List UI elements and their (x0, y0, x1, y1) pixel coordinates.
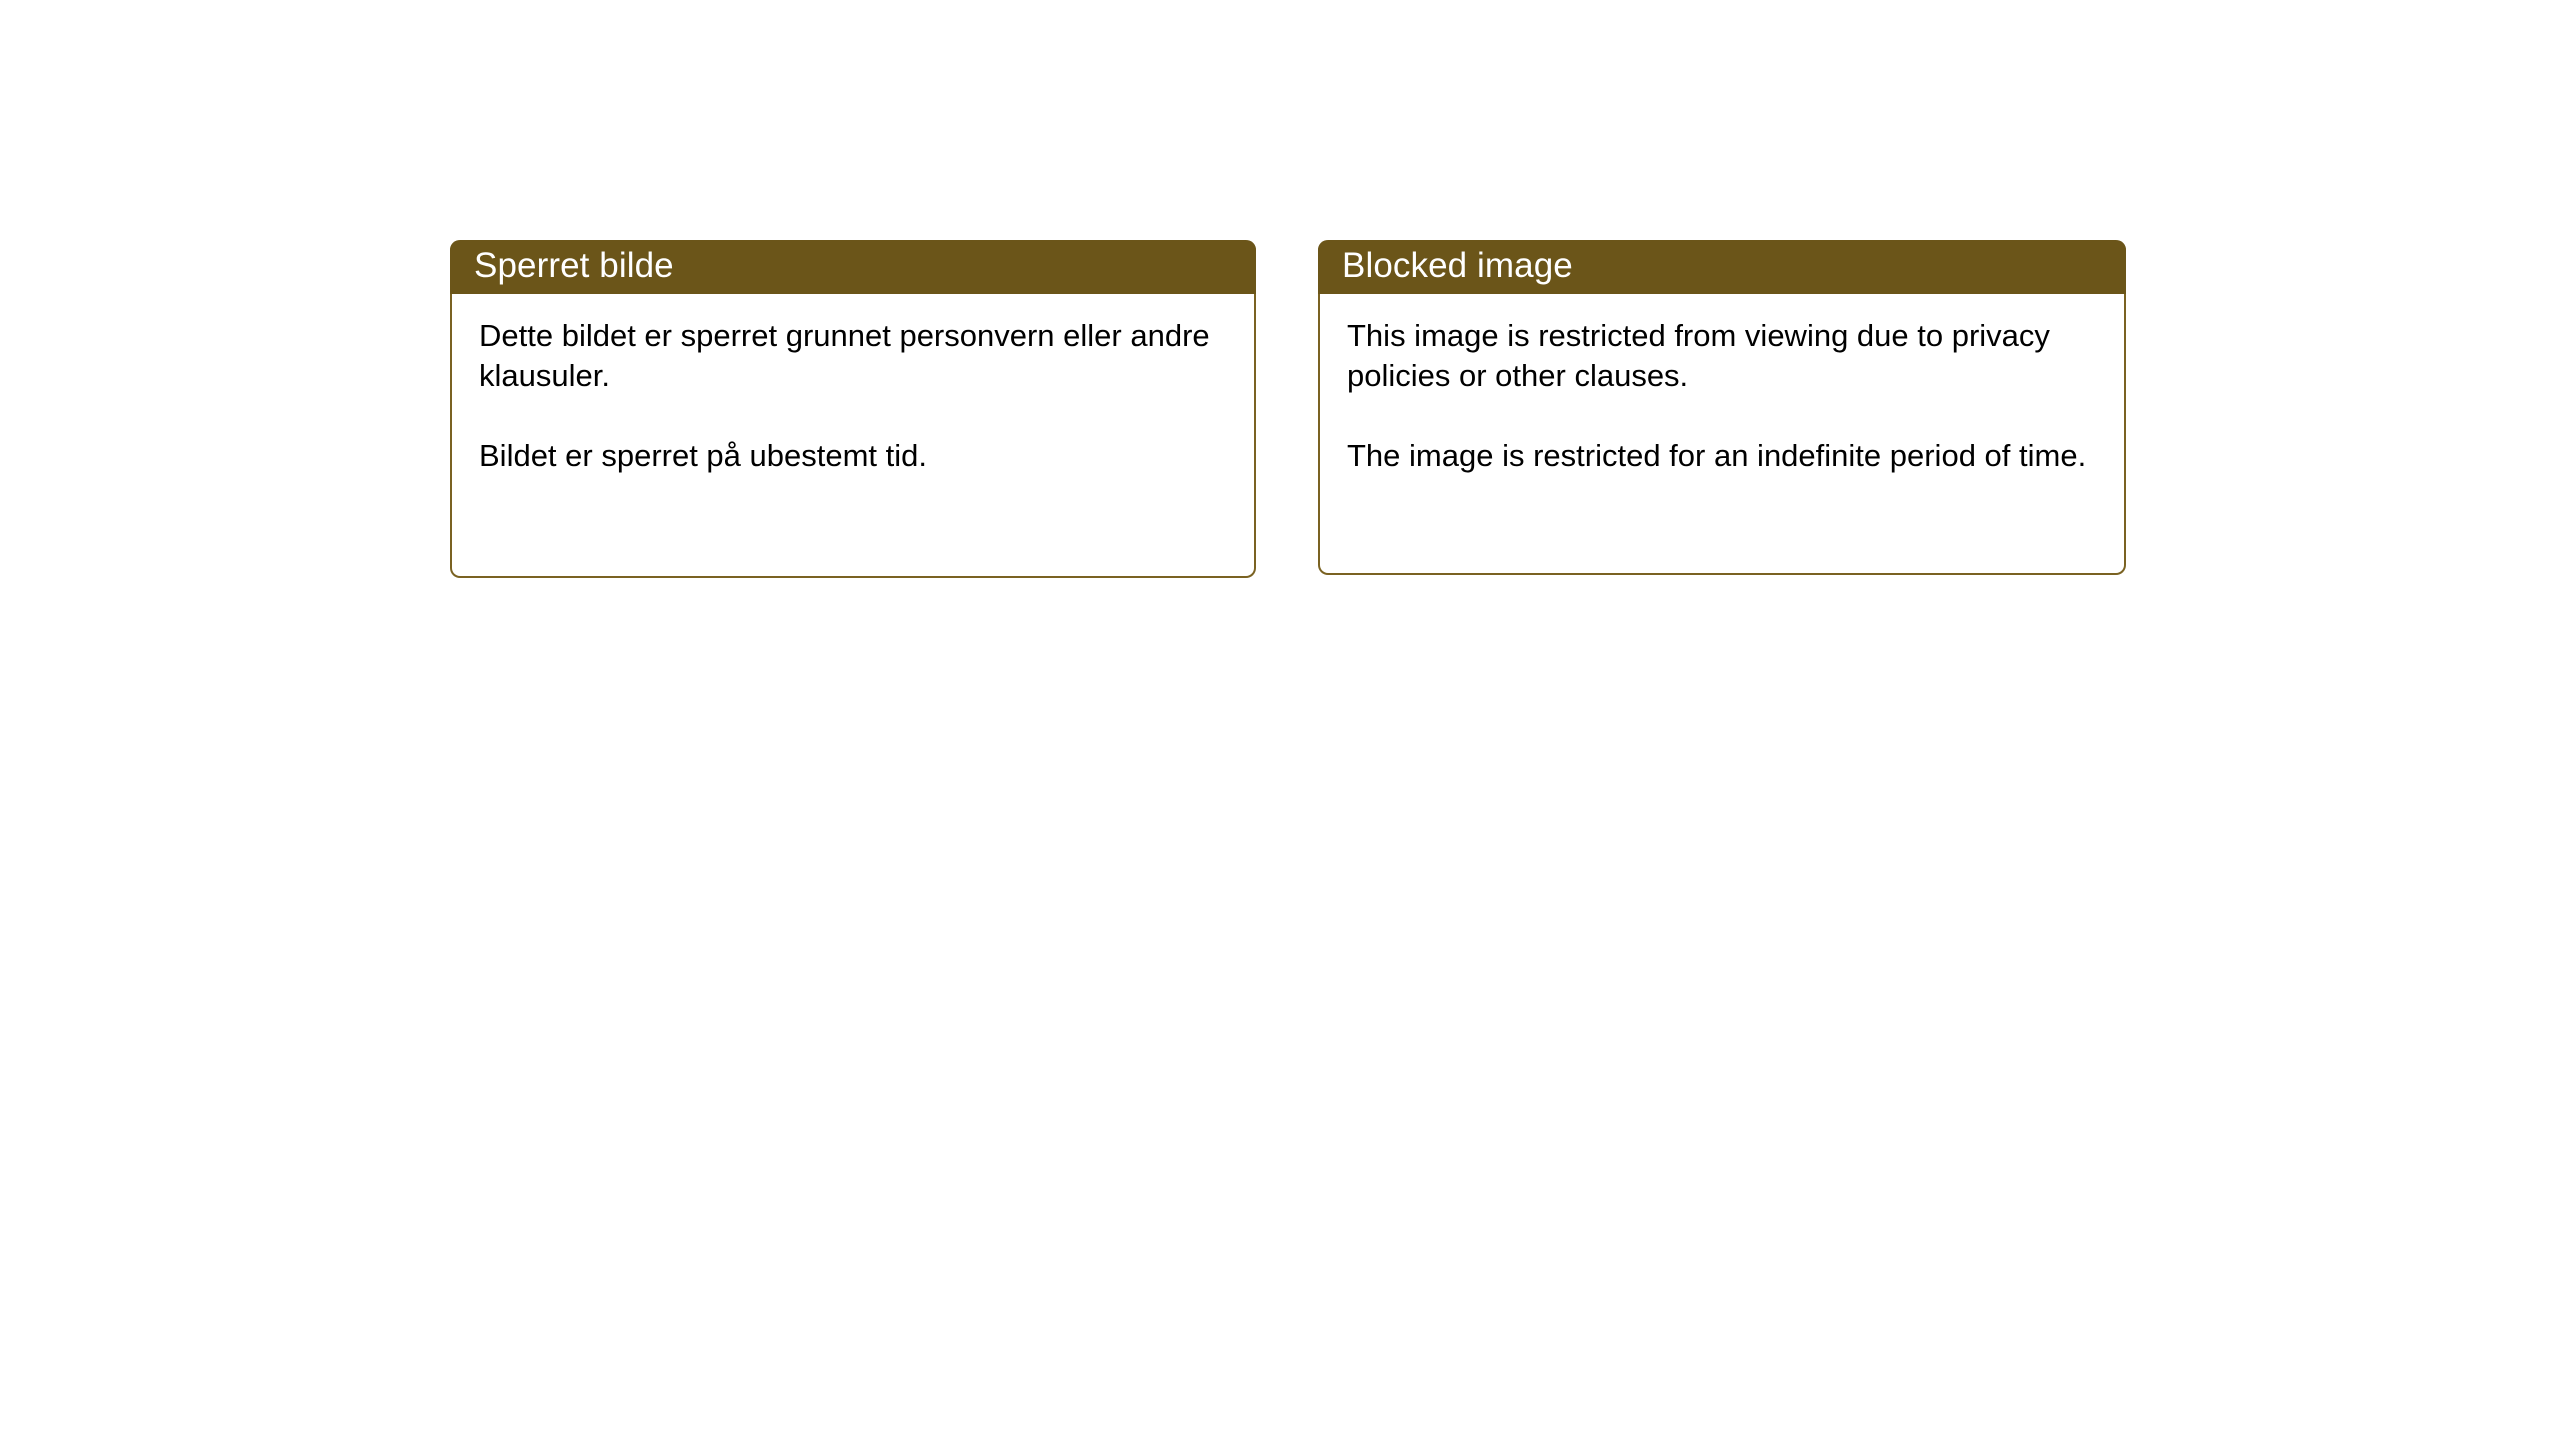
card-paragraph-primary-norwegian: Dette bildet er sperret grunnet personve… (479, 316, 1228, 397)
card-title-english: Blocked image (1318, 240, 2126, 294)
card-paragraph-primary-english: This image is restricted from viewing du… (1347, 316, 2098, 397)
card-paragraph-secondary-norwegian: Bildet er sperret på ubestemt tid. (479, 436, 1228, 476)
blocked-image-notice-group: Sperret bilde Dette bildet er sperret gr… (450, 240, 2126, 578)
card-body-english: This image is restricted from viewing du… (1320, 294, 2124, 503)
blocked-image-card-norwegian: Sperret bilde Dette bildet er sperret gr… (450, 240, 1256, 578)
blocked-image-card-english: Blocked image This image is restricted f… (1318, 240, 2126, 575)
card-body-norwegian: Dette bildet er sperret grunnet personve… (452, 294, 1254, 503)
card-paragraph-secondary-english: The image is restricted for an indefinit… (1347, 436, 2098, 476)
page-root: Sperret bilde Dette bildet er sperret gr… (0, 0, 2560, 1440)
card-title-norwegian: Sperret bilde (450, 240, 1256, 294)
